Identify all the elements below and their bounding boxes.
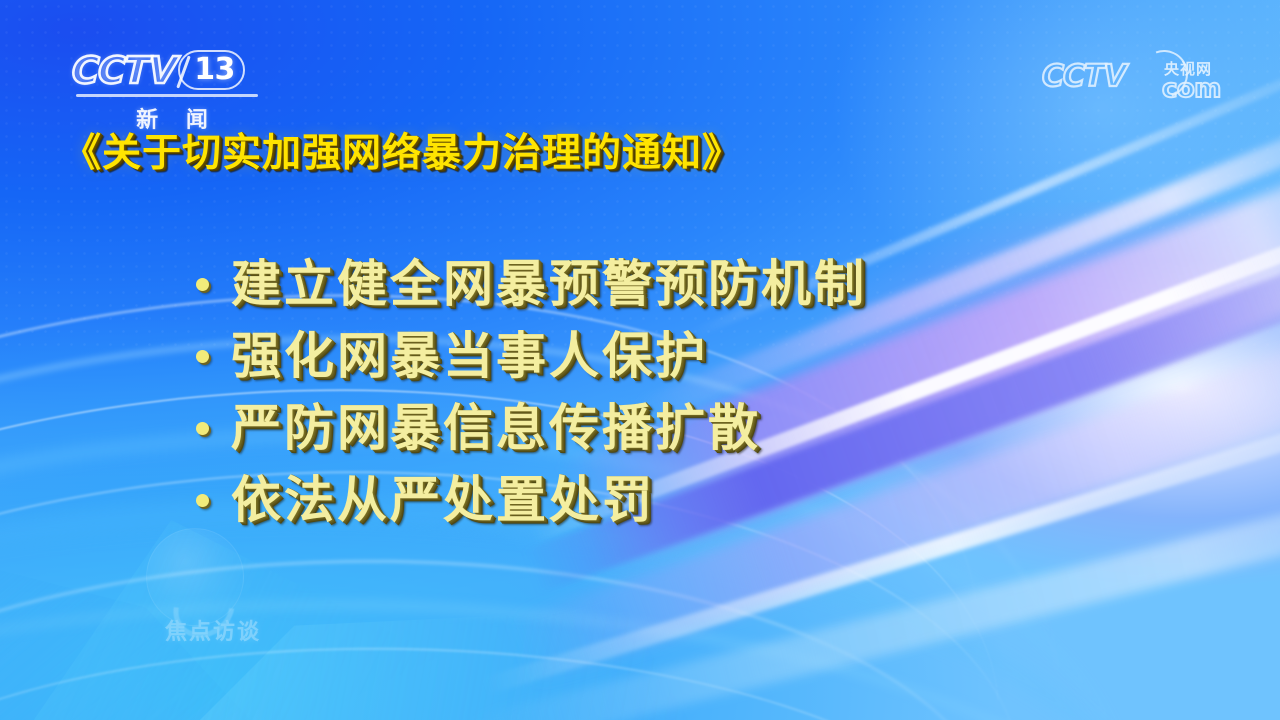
- channel-subtitle: 新 闻: [72, 102, 272, 134]
- list-item-label: 严防网暴信息传播扩散: [231, 403, 761, 453]
- program-name: 焦点访谈: [118, 614, 308, 646]
- cctv13-channel-logo: CCTV 13 新 闻: [72, 48, 272, 130]
- list-item-label: 强化网暴当事人保护: [231, 331, 708, 381]
- bullet-dot-icon: [196, 350, 209, 363]
- bullet-dot-icon: [196, 422, 209, 435]
- bullet-dot-icon: [196, 494, 209, 507]
- slash-icon: [176, 56, 190, 89]
- channel-number: 13: [194, 55, 235, 85]
- list-item-label: 依法从严处置处罚: [231, 475, 655, 525]
- list-item: 强化网暴当事人保护: [196, 320, 1096, 392]
- broadcast-slide: CCTV 13 新 闻 CCTV 央视网 com 《关于切实加强网络暴力治理的通…: [0, 0, 1280, 720]
- cctv-wordmark: CCTV: [1042, 62, 1126, 92]
- bullet-list: 建立健全网暴预警预防机制 强化网暴当事人保护 严防网暴信息传播扩散 依法从严处置…: [196, 248, 1096, 536]
- channel-number-badge: 13: [178, 50, 245, 90]
- list-item-label: 建立健全网暴预警预防机制: [231, 259, 867, 309]
- list-item: 依法从严处置处罚: [196, 464, 1096, 536]
- bullet-dot-icon: [196, 278, 209, 291]
- cctv-com-watermark: CCTV 央视网 com: [1042, 52, 1222, 112]
- list-item: 建立健全网暴预警预防机制: [196, 248, 1096, 320]
- page-title: 《关于切实加强网络暴力治理的通知》: [62, 133, 742, 176]
- list-item: 严防网暴信息传播扩散: [196, 392, 1096, 464]
- site-domain: com: [1162, 76, 1221, 102]
- cctv-wordmark: CCTV: [71, 52, 176, 89]
- logo-underline: [76, 94, 258, 97]
- program-watermark: 焦点访谈: [118, 528, 308, 648]
